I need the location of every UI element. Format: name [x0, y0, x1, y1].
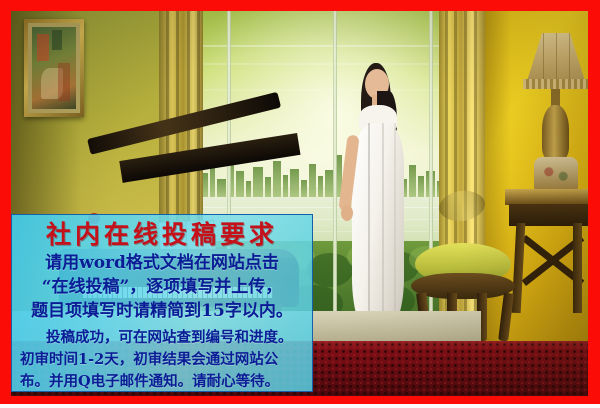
paragraph-2-line: 投稿成功，可在网站查到编号和进度。 [20, 327, 304, 349]
announcement-paragraph-2: 投稿成功，可在网站查到编号和进度。 初审时间1-2天，初审结果会通过网站公 布。… [18, 323, 306, 392]
paragraph-1-line: “在线投稿”，逐项填写并上传， [18, 275, 306, 299]
paragraph-2-line: 布。并用Q电子邮件通知。请耐心等待。 [20, 371, 304, 392]
announcement-paragraph-1: 请用word格式文档在网站点击 “在线投稿”，逐项填写并上传， 题目项填写时请精… [18, 251, 306, 323]
paragraph-1-line: 请用word格式文档在网站点击 [18, 251, 306, 275]
poster-frame: 社内在线投稿要求 请用word格式文档在网站点击 “在线投稿”，逐项填写并上传，… [0, 0, 600, 408]
announcement-title: 社内在线投稿要求 [18, 220, 306, 250]
announcement-box: 社内在线投稿要求 请用word格式文档在网站点击 “在线投稿”，逐项填写并上传，… [11, 214, 313, 392]
paragraph-1-line: 题目项填写时请精简到15字以内。 [18, 299, 306, 323]
bottom-white-strip [0, 404, 600, 408]
paragraph-2-line: 初审时间1-2天，初审结果会通过网站公 [20, 349, 304, 371]
